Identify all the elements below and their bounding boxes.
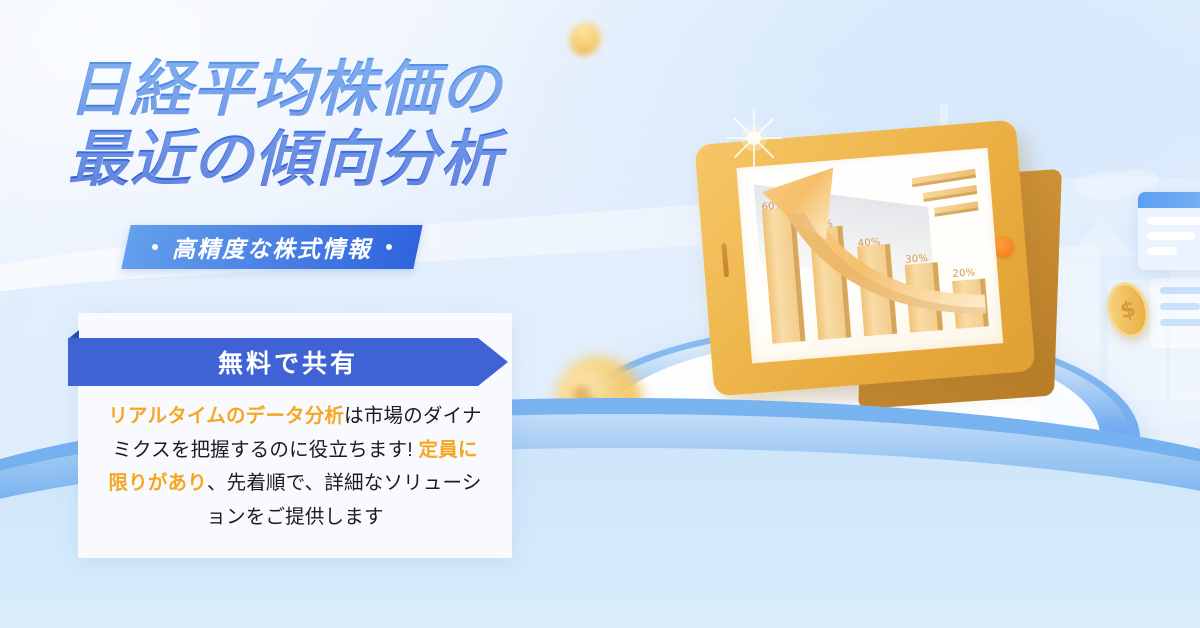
chart-bar-label: 60% <box>761 200 785 213</box>
coin-right-glyph: $ <box>1105 282 1150 339</box>
share-ribbon[interactable]: 無料で共有 <box>68 338 508 386</box>
dial-inner-face <box>596 338 1100 534</box>
page-title: 日経平均株価の 最近の傾向分析 <box>68 54 628 194</box>
share-ribbon-label: 無料で共有 <box>218 344 358 380</box>
subtitle-text: 高精度な株式情報 <box>172 230 372 264</box>
home-button-icon <box>993 236 1015 258</box>
chart-bar <box>905 262 943 332</box>
document-card <box>1138 192 1200 270</box>
bullet-dot-icon <box>386 244 392 250</box>
chart-bar <box>857 244 897 336</box>
dial-highlight <box>566 330 1130 544</box>
document-card-line <box>1147 247 1177 255</box>
dial-center <box>648 358 1048 514</box>
chart-bar-label: 50% <box>810 218 834 231</box>
chart-bar <box>809 226 851 340</box>
bullet-dot-icon <box>152 244 158 250</box>
card-body-text: リアルタイムのデータ分析は市場のダイナミクスを把握するのに役立ちます! 定員に限… <box>104 400 486 534</box>
subtitle-banner: 高精度な株式情報 <box>121 225 422 269</box>
chart-bar-label: 40% <box>857 237 881 250</box>
legend-line <box>923 185 977 202</box>
card-text-highlight-1: リアルタイムのデータ分析 <box>108 405 344 427</box>
document-card-line <box>1147 217 1200 225</box>
page-title-line-1: 日経平均株価の <box>68 55 502 123</box>
tablet-back-panel <box>858 169 1062 409</box>
legend-line <box>934 201 978 217</box>
upward-trend-arrow-icon <box>736 148 1003 364</box>
sparkle-icon <box>724 108 784 168</box>
city-skyline-silhouette <box>840 70 1200 400</box>
coin-left-blurred <box>545 346 653 458</box>
dial-gauge-platform <box>556 282 1140 582</box>
tablet-illustration: 60% 50% 40% 30% 20% <box>686 124 1066 424</box>
tablet-camera <box>721 243 729 277</box>
bar-chart: 60% 50% 40% 30% 20% <box>736 148 1003 364</box>
dial-outer-ring <box>556 324 1140 552</box>
hero-banner: $ 60% 50% 40% 30% <box>0 0 1200 628</box>
card-text-plain-2: 、先着順で、詳細なソリューションをご提供します <box>206 472 481 528</box>
chart-bar-label: 30% <box>905 253 929 266</box>
chart-shading <box>754 184 935 284</box>
chart-bar <box>952 278 989 328</box>
document-card-header <box>1138 192 1200 208</box>
chart-bar-label: 20% <box>952 267 976 280</box>
page-title-line-2: 最近の傾向分析 <box>68 124 628 194</box>
coin-right: $ <box>1102 278 1154 342</box>
tablet-device: 60% 50% 40% 30% 20% <box>694 119 1035 396</box>
legend-line <box>912 169 976 188</box>
tablet-screen: 60% 50% 40% 30% 20% <box>736 148 1003 364</box>
document-card-line <box>1147 232 1195 240</box>
tablet-shadow <box>710 324 1040 404</box>
chart-bar <box>762 207 806 343</box>
dial-tick-marks <box>596 338 1100 534</box>
ribbon-tail <box>68 330 79 339</box>
coin-left-glyph: $ <box>569 370 629 434</box>
document-card-back <box>1150 278 1200 348</box>
